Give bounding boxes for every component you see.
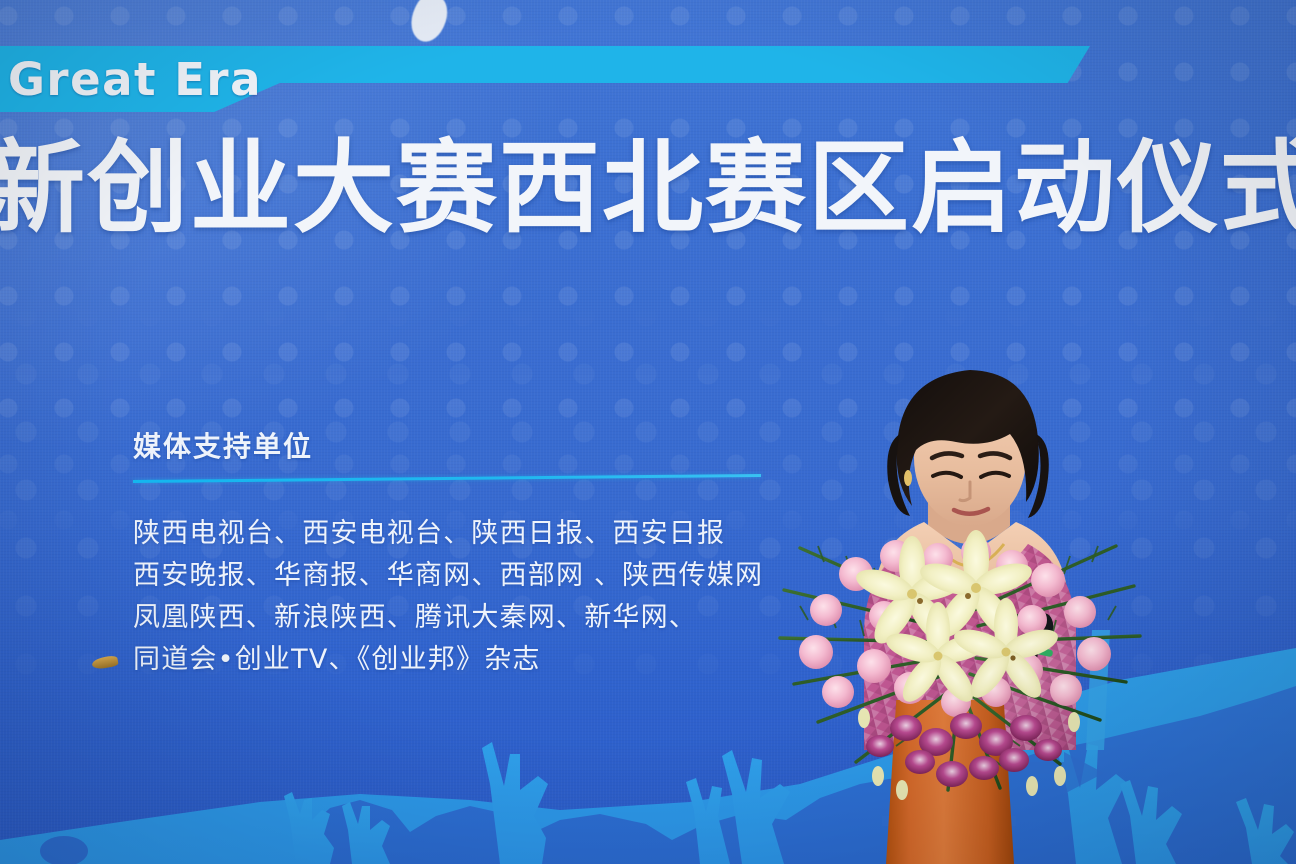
rose (857, 649, 891, 683)
orchid-bud (1026, 776, 1038, 796)
orchid (890, 715, 922, 741)
orchid (1034, 739, 1062, 761)
rose (1050, 674, 1082, 706)
ribbon-label: Great Era (8, 48, 368, 110)
orchid (950, 713, 982, 739)
orchid (999, 748, 1029, 772)
rose (810, 594, 842, 626)
page-title: 新创业大赛西北赛区启动仪式 (0, 134, 1164, 243)
orchid-group (866, 713, 1062, 787)
rose (1064, 596, 1096, 628)
screenshot-root: Great Era 新创业大赛西北赛区启动仪式 媒体支持单位 陕西电视台、西安电… (0, 0, 1296, 864)
media-support-heading: 媒体支持单位 (133, 425, 873, 465)
orchid (936, 761, 968, 787)
rose (822, 676, 854, 708)
orchid (1010, 715, 1042, 741)
ribbon-extension-bar (290, 46, 1090, 83)
orchid (905, 750, 935, 774)
flower-arrangement (760, 470, 1160, 800)
bouquet-svg (760, 470, 1160, 800)
orchid-bud (896, 780, 908, 800)
rose (799, 635, 833, 669)
rose (1031, 563, 1065, 597)
orchid (969, 756, 999, 780)
orchid-bud (872, 766, 884, 786)
orchid-bud (1054, 766, 1066, 786)
media-support-divider (133, 474, 761, 483)
orchid (866, 735, 894, 757)
orchid-bud (858, 708, 870, 728)
orchid-bud (1068, 712, 1080, 732)
rose (1077, 637, 1111, 671)
